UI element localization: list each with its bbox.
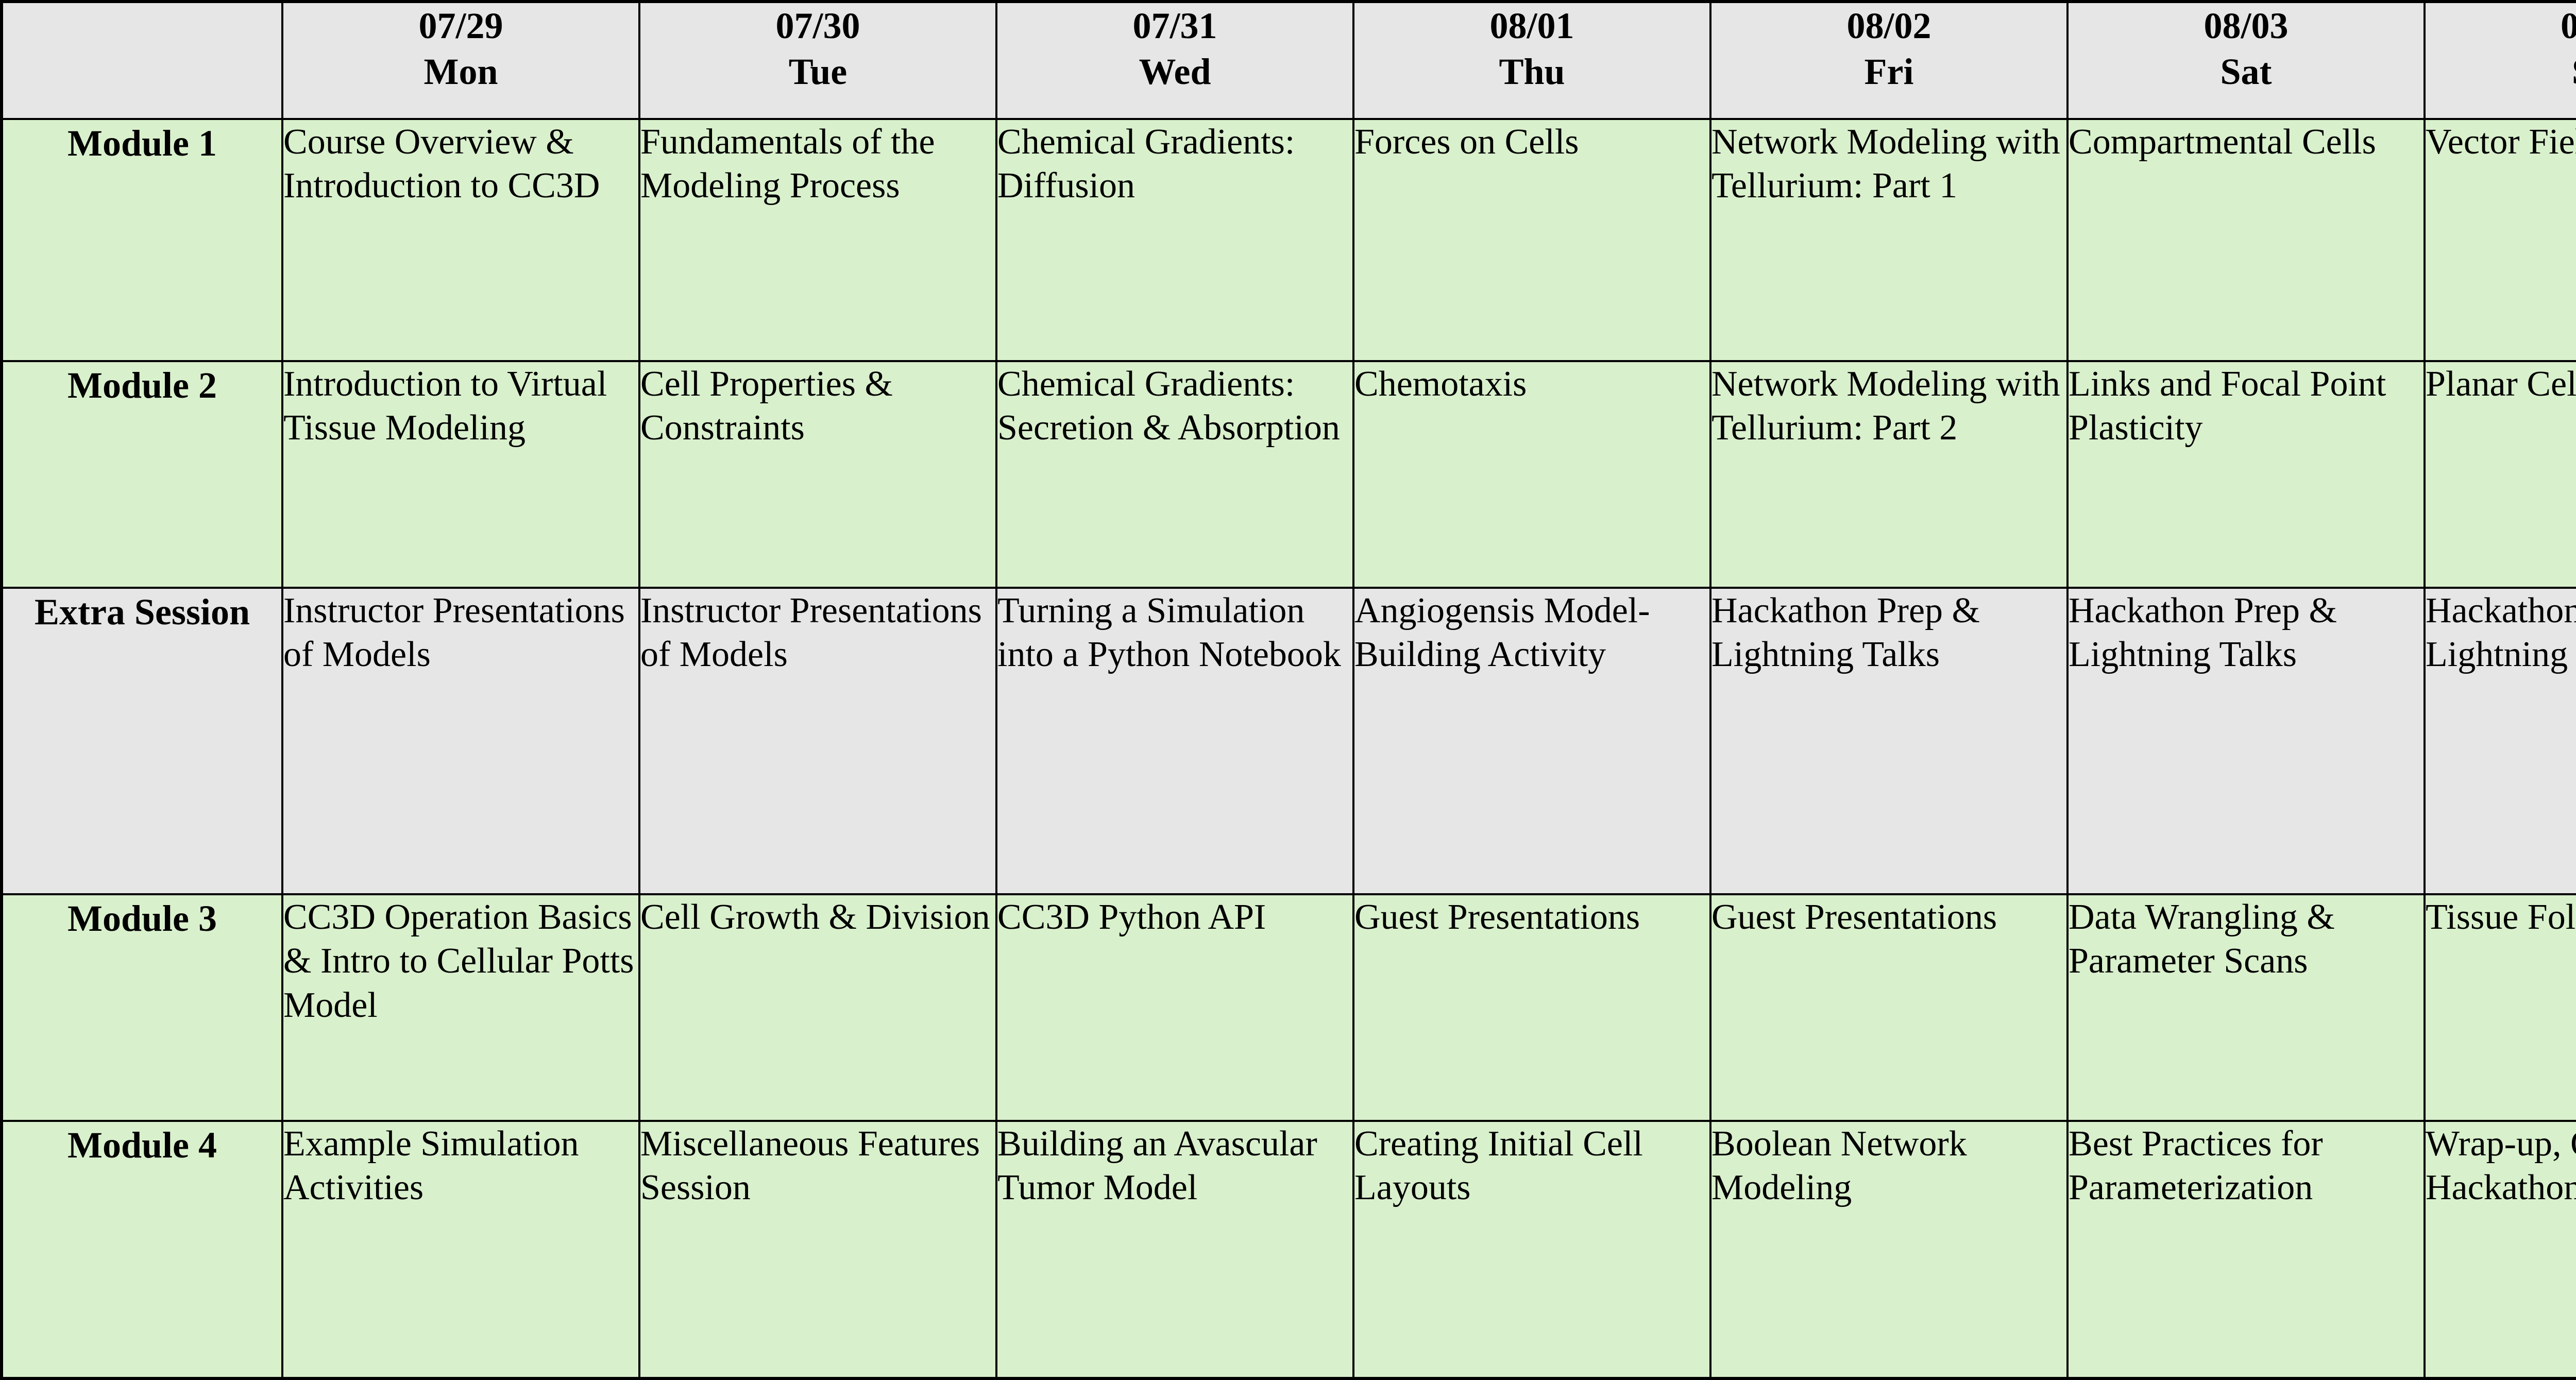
column-header-date: 07/30 [640, 3, 995, 49]
corner-cell [2, 2, 282, 119]
column-header-weekday: Sat [2069, 49, 2424, 95]
session-cell: CC3D Python API [996, 894, 1353, 1121]
session-cell: Wrap-up, Q&A, and Hackathon Prep [2425, 1121, 2576, 1378]
session-cell: Planar Cell Polarity [2425, 361, 2576, 588]
column-header-day-3: 07/31 Wed [996, 2, 1353, 119]
session-cell: Links and Focal Point Plasticity [2067, 361, 2425, 588]
session-cell: Course Overview & Introduction to CC3D [282, 119, 639, 361]
column-header-day-5: 08/02 Fri [1710, 2, 2067, 119]
session-cell: Best Practices for Parameterization [2067, 1121, 2425, 1378]
column-header-date: 08/03 [2069, 3, 2424, 49]
table-row-module-2: Module 2 Introduction to Virtual Tissue … [2, 361, 2576, 588]
column-header-weekday: Thu [1354, 49, 1709, 95]
column-header-weekday: Tue [640, 49, 995, 95]
session-cell: Vector Fields [2425, 119, 2576, 361]
table-body: Module 1 Course Overview & Introduction … [2, 119, 2576, 1378]
column-header-date: 07/31 [997, 3, 1352, 49]
row-label-module-3: Module 3 [2, 894, 282, 1121]
session-cell: Miscellaneous Features Session [639, 1121, 996, 1378]
column-header-weekday: Mon [283, 49, 638, 95]
session-cell: Creating Initial Cell Layouts [1353, 1121, 1710, 1378]
column-header-day-6: 08/03 Sat [2067, 2, 2425, 119]
column-header-date: 08/04 [2426, 3, 2576, 49]
session-cell: Hackathon Prep & Lightning Talks [1710, 588, 2067, 894]
session-cell: Angiogensis Model-Building Activity [1353, 588, 1710, 894]
session-cell: Chemotaxis [1353, 361, 1710, 588]
column-header-weekday: Sun [2426, 49, 2576, 95]
column-header-weekday: Wed [997, 49, 1352, 95]
header-row: 07/29 Mon 07/30 Tue 07/31 Wed 08/01 Thu … [2, 2, 2576, 119]
session-cell: Fundamentals of the Modeling Process [639, 119, 996, 361]
session-cell: Guest Presentations [1710, 894, 2067, 1121]
course-schedule-table: 07/29 Mon 07/30 Tue 07/31 Wed 08/01 Thu … [0, 0, 2576, 1380]
row-label-module-1: Module 1 [2, 119, 282, 361]
session-cell: Chemical Gradients: Diffusion [996, 119, 1353, 361]
session-cell: Network Modeling with Tellurium: Part 2 [1710, 361, 2067, 588]
session-cell: Instructor Presentations of Models [639, 588, 996, 894]
session-cell: Hackathon Prep & Lightning Talks [2425, 588, 2576, 894]
column-header-date: 08/01 [1354, 3, 1709, 49]
session-cell: Network Modeling with Tellurium: Part 1 [1710, 119, 2067, 361]
session-cell: Introduction to Virtual Tissue Modeling [282, 361, 639, 588]
session-cell: Turning a Simulation into a Python Noteb… [996, 588, 1353, 894]
session-cell: Hackathon Prep & Lightning Talks [2067, 588, 2425, 894]
row-label-extra-session: Extra Session [2, 588, 282, 894]
row-label-module-2: Module 2 [2, 361, 282, 588]
column-header-date: 07/29 [283, 3, 638, 49]
column-header-day-7: 08/04 Sun [2425, 2, 2576, 119]
column-header-weekday: Fri [1711, 49, 2066, 95]
column-header-date: 08/02 [1711, 3, 2066, 49]
session-cell: CC3D Operation Basics & Intro to Cellula… [282, 894, 639, 1121]
session-cell: Tissue Folding [2425, 894, 2576, 1121]
column-header-day-1: 07/29 Mon [282, 2, 639, 119]
session-cell: Instructor Presentations of Models [282, 588, 639, 894]
table-row-module-4: Module 4 Example Simulation Activities M… [2, 1121, 2576, 1378]
table-header: 07/29 Mon 07/30 Tue 07/31 Wed 08/01 Thu … [2, 2, 2576, 119]
column-header-day-2: 07/30 Tue [639, 2, 996, 119]
session-cell: Cell Properties & Constraints [639, 361, 996, 588]
session-cell: Guest Presentations [1353, 894, 1710, 1121]
session-cell: Example Simulation Activities [282, 1121, 639, 1378]
row-label-module-4: Module 4 [2, 1121, 282, 1378]
table-row-module-1: Module 1 Course Overview & Introduction … [2, 119, 2576, 361]
session-cell: Chemical Gradients: Secretion & Absorpti… [996, 361, 1353, 588]
table-row-extra-session: Extra Session Instructor Presentations o… [2, 588, 2576, 894]
session-cell: Data Wrangling & Parameter Scans [2067, 894, 2425, 1121]
table-row-module-3: Module 3 CC3D Operation Basics & Intro t… [2, 894, 2576, 1121]
session-cell: Forces on Cells [1353, 119, 1710, 361]
session-cell: Boolean Network Modeling [1710, 1121, 2067, 1378]
session-cell: Cell Growth & Division [639, 894, 996, 1121]
session-cell: Compartmental Cells [2067, 119, 2425, 361]
column-header-day-4: 08/01 Thu [1353, 2, 1710, 119]
session-cell: Building an Avascular Tumor Model [996, 1121, 1353, 1378]
